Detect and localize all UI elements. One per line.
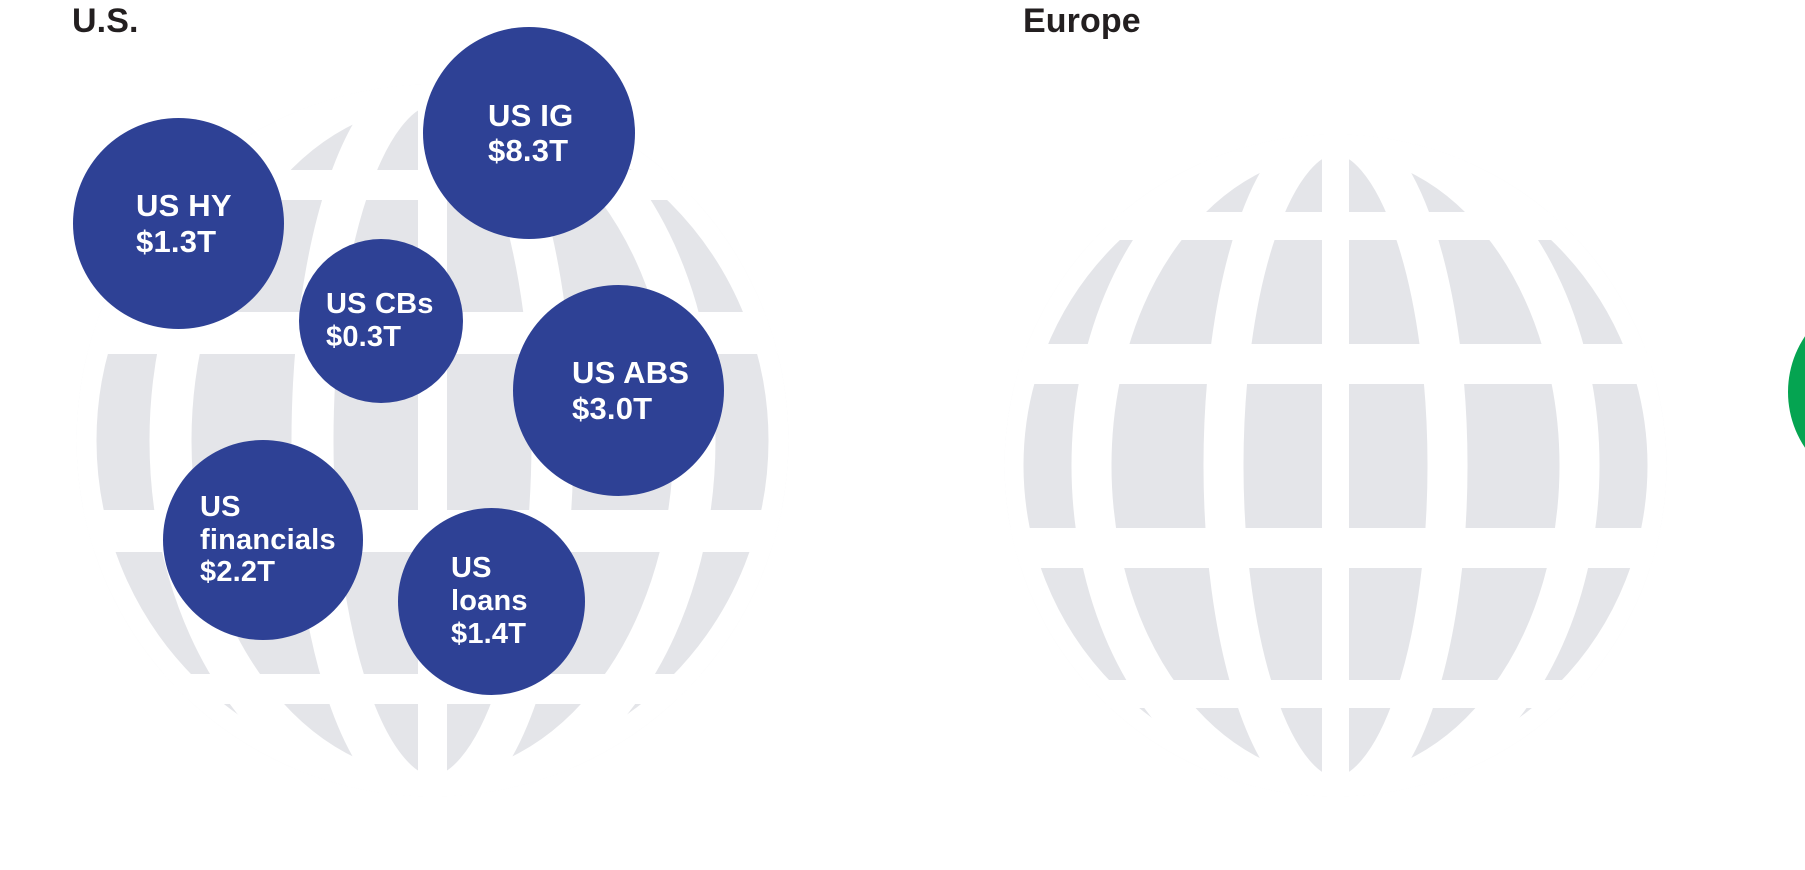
bubble-eu-abs[interactable]: EU ABS $1.3T bbox=[1788, 292, 1805, 492]
bubble-us-hy[interactable]: US HY $1.3T bbox=[73, 118, 284, 329]
bubble-us-loans[interactable]: US loans $1.4T bbox=[398, 508, 585, 695]
globe-latitude-band bbox=[998, 344, 1673, 384]
globe-meridian bbox=[1092, 135, 1580, 797]
bubble-label: US loans $1.4T bbox=[451, 552, 528, 650]
globe-latitude-band bbox=[998, 680, 1673, 708]
bubble-label: US CBs $0.3T bbox=[326, 288, 434, 354]
bubble-label: US HY $1.3T bbox=[136, 188, 232, 258]
bubble-us-ig[interactable]: US IG $8.3T bbox=[423, 27, 635, 239]
bubble-us-financials[interactable]: US financials $2.2T bbox=[163, 440, 363, 640]
bubble-us-cbs[interactable]: US CBs $0.3T bbox=[299, 239, 463, 403]
globe-graphic-europe bbox=[998, 128, 1673, 803]
globe-latitude-band bbox=[998, 528, 1673, 568]
globe-latitude-band bbox=[70, 674, 795, 704]
globe-meridian bbox=[1005, 135, 1667, 797]
globe-disc-europe bbox=[1005, 135, 1667, 797]
bubble-label: US financials $2.2T bbox=[200, 491, 336, 589]
panel-us: U.S. bbox=[0, 0, 880, 870]
bubble-label: US ABS $3.0T bbox=[572, 355, 689, 425]
globe-meridian bbox=[1224, 135, 1448, 797]
panel-title-europe: Europe bbox=[1023, 2, 1141, 40]
bubble-label: US IG $8.3T bbox=[488, 98, 573, 168]
credit-market-bubble-infographic: U.S. bbox=[0, 0, 1805, 870]
panel-europe: Europe bbox=[880, 0, 1805, 870]
panel-title-us: U.S. bbox=[72, 2, 139, 40]
bubble-us-abs[interactable]: US ABS $3.0T bbox=[513, 285, 724, 496]
globe-polar-axis bbox=[1322, 128, 1349, 803]
globe-latitude-band bbox=[998, 212, 1673, 240]
